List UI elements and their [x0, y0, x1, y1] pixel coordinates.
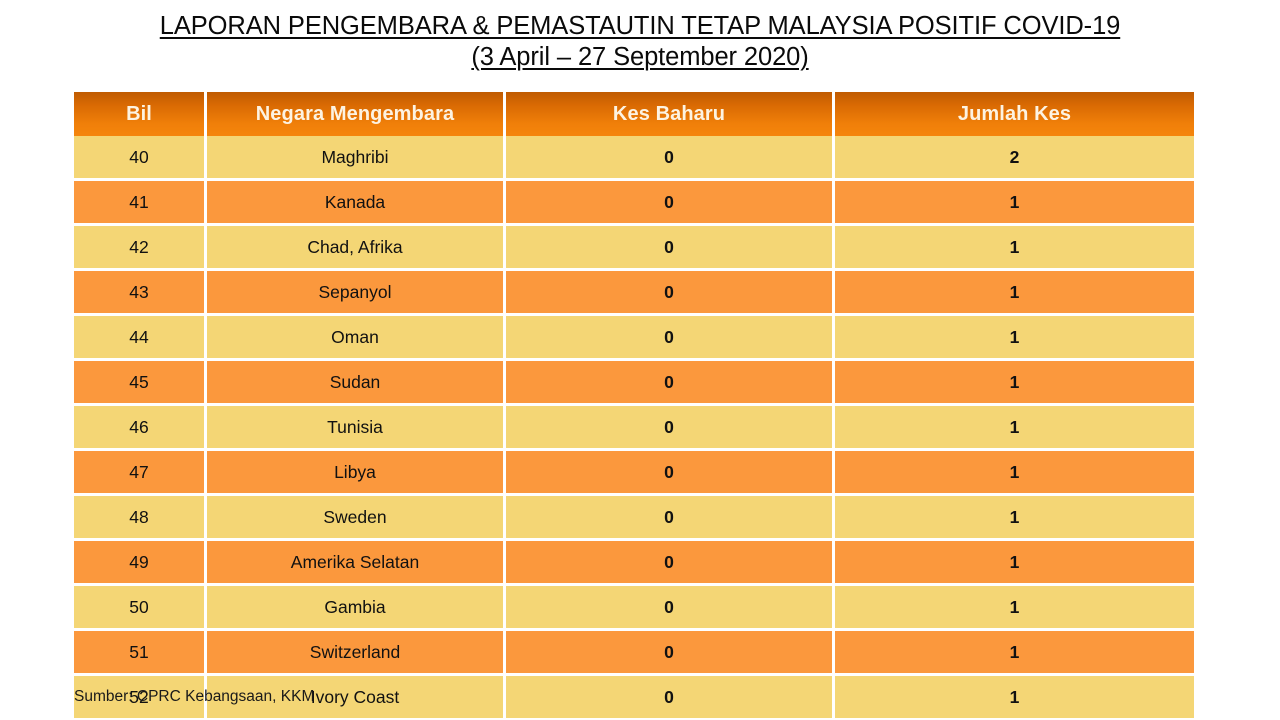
table-header-row: Bil Negara Mengembara Kes Baharu Jumlah …	[74, 92, 1194, 136]
report-table: Bil Negara Mengembara Kes Baharu Jumlah …	[74, 92, 1194, 718]
cell-negara: Kanada	[207, 181, 506, 226]
cell-bil: 49	[74, 541, 207, 586]
column-header-negara: Negara Mengembara	[207, 92, 506, 136]
cell-bil: 44	[74, 316, 207, 361]
cell-jumlah-kes: 1	[835, 676, 1194, 718]
cell-bil: 46	[74, 406, 207, 451]
table-row: 43Sepanyol01	[74, 271, 1194, 316]
cell-negara: Gambia	[207, 586, 506, 631]
cell-negara: Sweden	[207, 496, 506, 541]
cell-negara: Sudan	[207, 361, 506, 406]
cell-negara: Sepanyol	[207, 271, 506, 316]
cell-bil: 40	[74, 136, 207, 181]
cell-kes-baharu: 0	[506, 676, 835, 718]
cell-jumlah-kes: 1	[835, 496, 1194, 541]
cell-kes-baharu: 0	[506, 271, 835, 316]
table-row: 49Amerika Selatan01	[74, 541, 1194, 586]
cell-bil: 45	[74, 361, 207, 406]
cell-bil: 50	[74, 586, 207, 631]
table-row: 45Sudan01	[74, 361, 1194, 406]
table-row: 50Gambia01	[74, 586, 1194, 631]
table-row: 44Oman01	[74, 316, 1194, 361]
table-row: 46Tunisia01	[74, 406, 1194, 451]
cell-bil: 43	[74, 271, 207, 316]
cell-jumlah-kes: 1	[835, 181, 1194, 226]
cell-kes-baharu: 0	[506, 406, 835, 451]
cell-kes-baharu: 0	[506, 316, 835, 361]
column-header-jumlah-kes: Jumlah Kes	[835, 92, 1194, 136]
cell-kes-baharu: 0	[506, 181, 835, 226]
cell-kes-baharu: 0	[506, 631, 835, 676]
cell-jumlah-kes: 1	[835, 316, 1194, 361]
cell-bil: 47	[74, 451, 207, 496]
cell-jumlah-kes: 1	[835, 361, 1194, 406]
cell-jumlah-kes: 1	[835, 541, 1194, 586]
title-line-2-text: (3 April – 27 September 2020)	[471, 43, 808, 71]
title-line-1: LAPORAN PENGEMBARA & PEMASTAUTIN TETAP M…	[0, 11, 1280, 42]
cell-kes-baharu: 0	[506, 226, 835, 271]
table-row: 40Maghribi02	[74, 136, 1194, 181]
table-row: 47Libya01	[74, 451, 1194, 496]
page-title: LAPORAN PENGEMBARA & PEMASTAUTIN TETAP M…	[0, 0, 1280, 73]
cell-jumlah-kes: 1	[835, 271, 1194, 316]
cell-jumlah-kes: 1	[835, 226, 1194, 271]
cell-negara: Switzerland	[207, 631, 506, 676]
cell-negara: Amerika Selatan	[207, 541, 506, 586]
cell-kes-baharu: 0	[506, 586, 835, 631]
cell-negara: Tunisia	[207, 406, 506, 451]
table-header: Bil Negara Mengembara Kes Baharu Jumlah …	[74, 92, 1194, 136]
cell-bil: 42	[74, 226, 207, 271]
table-row: 42Chad, Afrika01	[74, 226, 1194, 271]
column-header-bil: Bil	[74, 92, 207, 136]
table-row: 41Kanada01	[74, 181, 1194, 226]
cell-kes-baharu: 0	[506, 361, 835, 406]
table-row: 48Sweden01	[74, 496, 1194, 541]
report-table-container: Bil Negara Mengembara Kes Baharu Jumlah …	[74, 92, 1194, 718]
cell-jumlah-kes: 1	[835, 631, 1194, 676]
cell-negara: Oman	[207, 316, 506, 361]
column-header-kes-baharu: Kes Baharu	[506, 92, 835, 136]
cell-negara: Libya	[207, 451, 506, 496]
cell-kes-baharu: 0	[506, 496, 835, 541]
cell-jumlah-kes: 1	[835, 586, 1194, 631]
source-note: Sumber: CPRC Kebangsaan, KKM	[74, 688, 314, 706]
cell-jumlah-kes: 1	[835, 451, 1194, 496]
cell-jumlah-kes: 1	[835, 406, 1194, 451]
title-line-2: (3 April – 27 September 2020)	[0, 42, 1280, 73]
cell-bil: 51	[74, 631, 207, 676]
title-line-1-text: LAPORAN PENGEMBARA & PEMASTAUTIN TETAP M…	[160, 12, 1120, 40]
cell-jumlah-kes: 2	[835, 136, 1194, 181]
cell-kes-baharu: 0	[506, 451, 835, 496]
table-row: 51Switzerland01	[74, 631, 1194, 676]
cell-kes-baharu: 0	[506, 541, 835, 586]
table-body: 40Maghribi0241Kanada0142Chad, Afrika0143…	[74, 136, 1194, 718]
cell-negara: Maghribi	[207, 136, 506, 181]
cell-kes-baharu: 0	[506, 136, 835, 181]
cell-negara: Chad, Afrika	[207, 226, 506, 271]
cell-bil: 48	[74, 496, 207, 541]
cell-bil: 41	[74, 181, 207, 226]
